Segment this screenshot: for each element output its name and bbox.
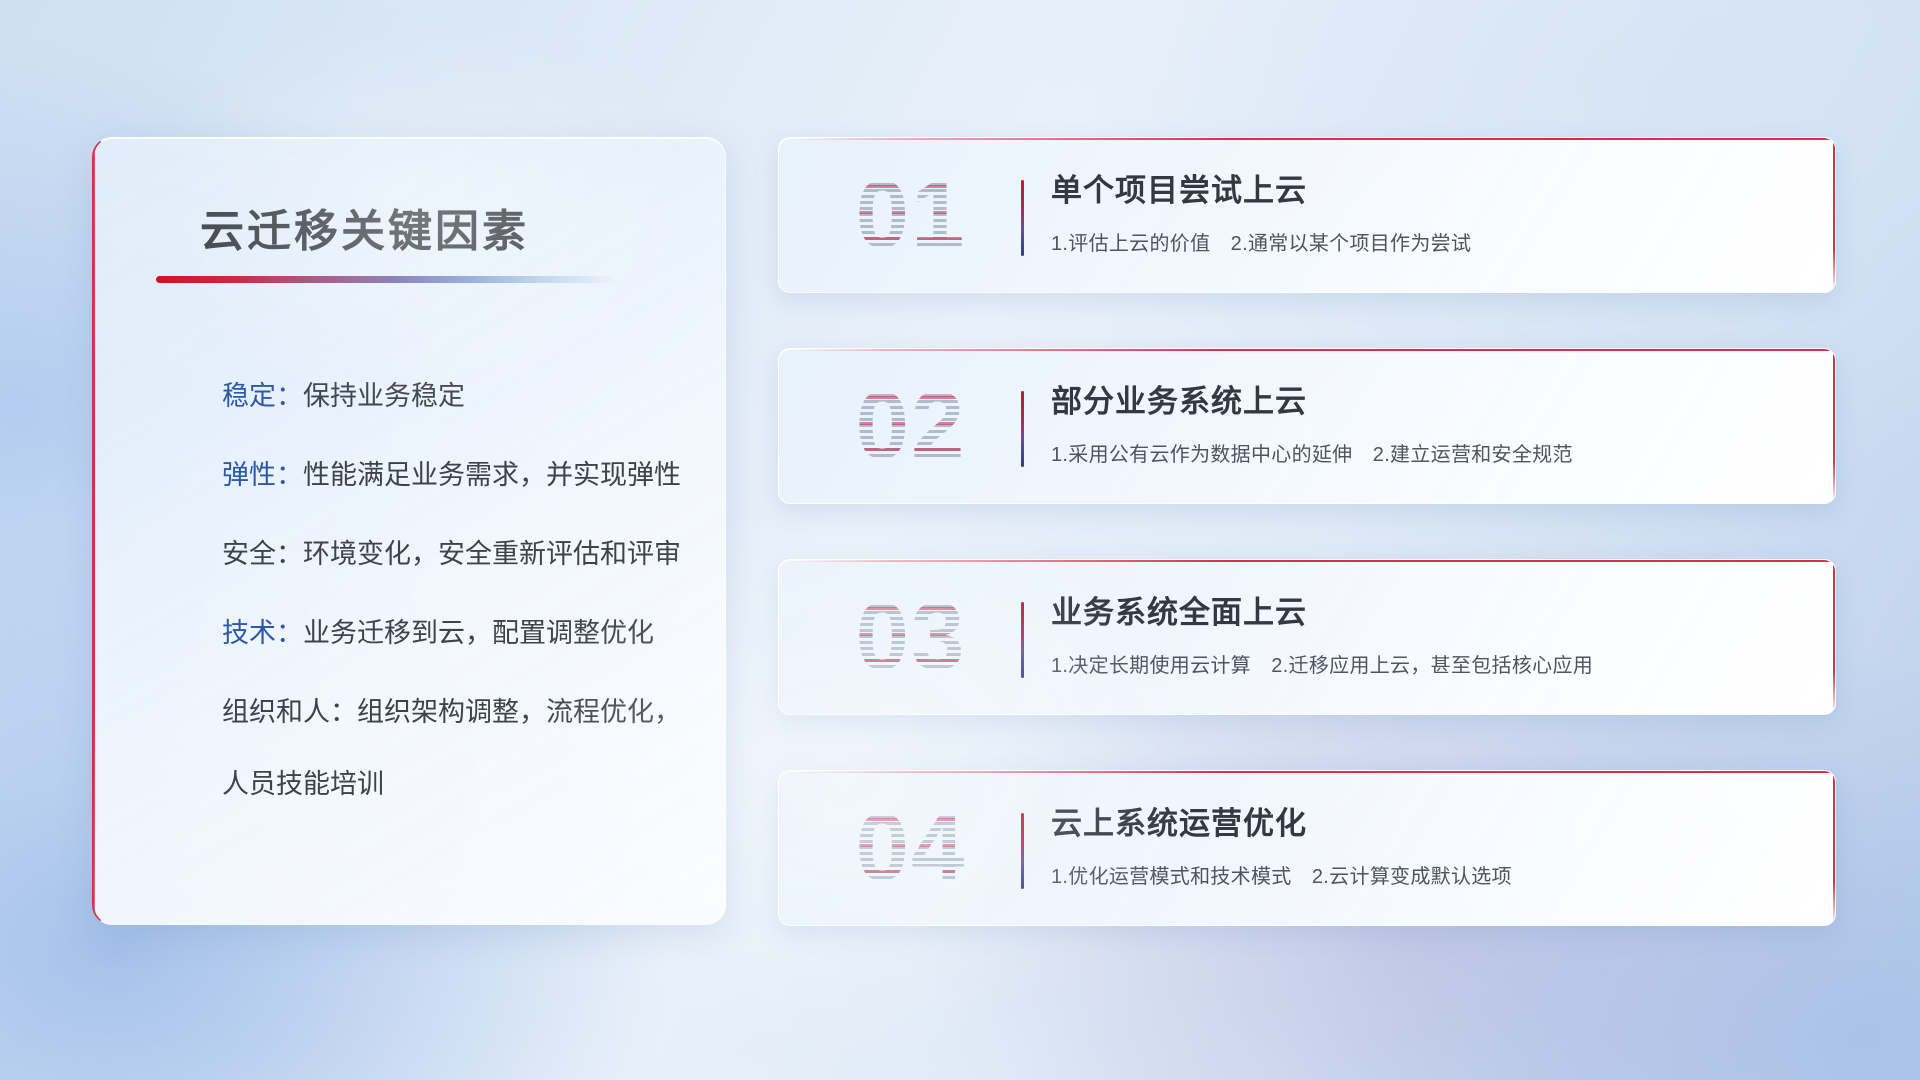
- factor-row: 组织和人：组织架构调整，流程优化，: [130, 699, 701, 726]
- stage-card-list: 01 01 单个项目尝试上云 1.评估上云的价值 2.通常以某个项目作为尝试 0…: [778, 137, 1836, 926]
- factor-value: 性能满足业务需求，并实现弹性: [303, 460, 681, 490]
- stage-points: 1.优化运营模式和技术模式 2.云计算变成默认选项: [1051, 860, 1807, 889]
- stage-title: 单个项目尝试上云: [1051, 172, 1807, 209]
- stage-title: 业务系统全面上云: [1051, 594, 1807, 631]
- stage-card-body: 部分业务系统上云 1.采用公有云作为数据中心的延伸 2.建立运营和安全规范: [1051, 383, 1807, 467]
- factor-key: 技术：: [222, 618, 303, 648]
- factor-row: 弹性：性能满足业务需求，并实现弹性: [130, 462, 701, 489]
- card-right-accent-line: [1833, 349, 1835, 503]
- stage-number-watermark-tint: 02: [823, 370, 999, 482]
- card-right-accent-line: [1833, 560, 1835, 714]
- factor-value: 环境变化，安全重新评估和评审: [303, 539, 681, 569]
- stage-accent-bar: [1021, 180, 1024, 256]
- stage-card[interactable]: 04 04 云上系统运营优化 1.优化运营模式和技术模式 2.云计算变成默认选项: [778, 770, 1836, 926]
- factor-row: 稳定：保持业务稳定: [130, 383, 701, 410]
- factor-value: 组织架构调整，流程优化，: [357, 697, 681, 727]
- factor-row: 技术：业务迁移到云，配置调整优化: [130, 620, 701, 647]
- factor-key: 安全：: [222, 539, 303, 569]
- factor-row: 安全：环境变化，安全重新评估和评审: [130, 541, 701, 568]
- card-top-accent-line: [789, 560, 1835, 562]
- slide-canvas: 云迁移关键因素 稳定：保持业务稳定 弹性：性能满足业务需求，并实现弹性 安全：环…: [0, 0, 1920, 1080]
- title-gradient-rule: [156, 276, 616, 283]
- factor-key: 组织和人：: [222, 697, 357, 727]
- page-title: 云迁移关键因素: [200, 195, 529, 259]
- stage-accent-bar: [1021, 391, 1024, 467]
- stage-number-watermark: 04: [823, 792, 999, 904]
- stage-accent-bar: [1021, 813, 1024, 889]
- card-top-accent-line: [789, 771, 1835, 773]
- stage-accent-bar: [1021, 602, 1024, 678]
- factor-value: 业务迁移到云，配置调整优化: [303, 618, 654, 648]
- factor-continuation: 人员技能培训: [130, 762, 701, 801]
- key-factors-panel: 云迁移关键因素 稳定：保持业务稳定 弹性：性能满足业务需求，并实现弹性 安全：环…: [92, 137, 726, 925]
- factor-value: 保持业务稳定: [303, 381, 465, 411]
- stage-points: 1.采用公有云作为数据中心的延伸 2.建立运营和安全规范: [1051, 438, 1807, 467]
- stage-card[interactable]: 03 03 业务系统全面上云 1.决定长期使用云计算 2.迁移应用上云，甚至包括…: [778, 559, 1836, 715]
- stage-card-body: 云上系统运营优化 1.优化运营模式和技术模式 2.云计算变成默认选项: [1051, 805, 1807, 889]
- stage-number-watermark: 01: [823, 159, 999, 271]
- card-top-accent-line: [789, 349, 1835, 351]
- stage-title: 云上系统运营优化: [1051, 805, 1807, 842]
- stage-card-body: 业务系统全面上云 1.决定长期使用云计算 2.迁移应用上云，甚至包括核心应用: [1051, 594, 1807, 678]
- stage-number-watermark-tint: 01: [823, 159, 999, 271]
- stage-number-watermark: 02: [823, 370, 999, 482]
- stage-number-watermark: 03: [823, 581, 999, 693]
- factor-list: 稳定：保持业务稳定 弹性：性能满足业务需求，并实现弹性 安全：环境变化，安全重新…: [130, 383, 701, 801]
- card-top-accent-line: [789, 138, 1835, 140]
- stage-points: 1.评估上云的价值 2.通常以某个项目作为尝试: [1051, 227, 1807, 256]
- stage-card[interactable]: 01 01 单个项目尝试上云 1.评估上云的价值 2.通常以某个项目作为尝试: [778, 137, 1836, 293]
- stage-number-watermark-tint: 04: [823, 792, 999, 904]
- stage-points: 1.决定长期使用云计算 2.迁移应用上云，甚至包括核心应用: [1051, 649, 1807, 678]
- stage-title: 部分业务系统上云: [1051, 383, 1807, 420]
- factor-key: 弹性：: [222, 460, 303, 490]
- card-right-accent-line: [1833, 138, 1835, 292]
- stage-card-body: 单个项目尝试上云 1.评估上云的价值 2.通常以某个项目作为尝试: [1051, 172, 1807, 256]
- factor-key: 稳定：: [222, 381, 303, 411]
- card-right-accent-line: [1833, 771, 1835, 925]
- stage-card[interactable]: 02 02 部分业务系统上云 1.采用公有云作为数据中心的延伸 2.建立运营和安…: [778, 348, 1836, 504]
- stage-number-watermark-tint: 03: [823, 581, 999, 693]
